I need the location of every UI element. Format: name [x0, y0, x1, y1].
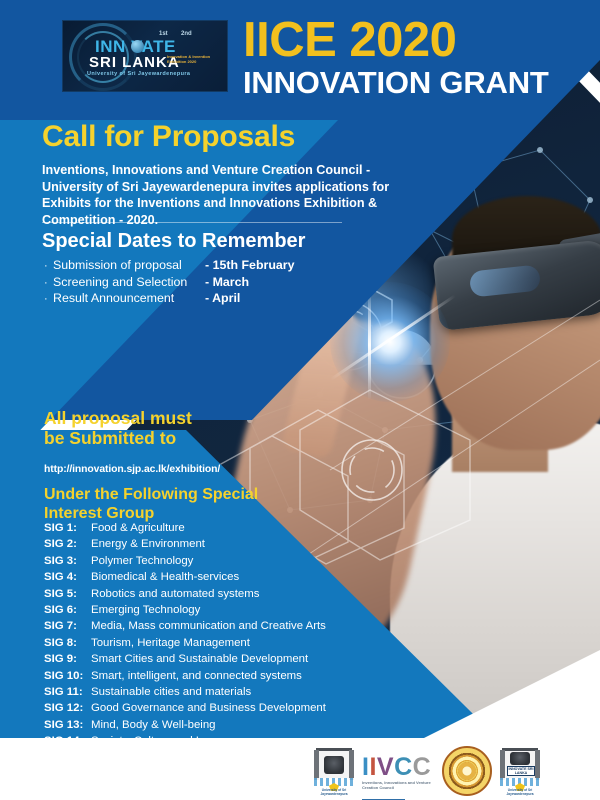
- dates-list: · Submission of proposal - 15th February…: [44, 258, 295, 308]
- crest-emblem: [324, 756, 344, 774]
- list-item: SIG 2:Energy & Environment: [44, 538, 327, 554]
- page-subtitle: INNOVATION GRANT: [243, 67, 549, 98]
- list-item: SIG 7:Media, Mass communication and Crea…: [44, 620, 327, 636]
- submission-url-link[interactable]: http://innovation.sjp.ac.lk/exhibition/: [44, 464, 220, 475]
- iivcc-letter-4: C: [394, 753, 413, 781]
- page-title: IICE 2020: [243, 16, 456, 65]
- sig-key: SIG 6:: [44, 604, 91, 616]
- sig-key: SIG 2:: [44, 538, 91, 550]
- list-item: SIG 4:Biomedical & Health-services: [44, 571, 327, 587]
- date-label: Result Announcement: [53, 291, 205, 305]
- list-item: SIG 15:eGovernment Services & Public Adm…: [44, 751, 327, 767]
- list-item: · Submission of proposal - 15th February: [44, 258, 295, 275]
- sig-value: Smart Cities and Sustainable Development: [91, 653, 308, 665]
- poster-root: 1st 2nd INN VATE SRI LANKA Innovation & …: [0, 0, 600, 800]
- list-item: SIG 10:Smart, intelligent, and connected…: [44, 670, 327, 686]
- university-crest-left-icon: University of Sri Jayewardenepura: [312, 744, 356, 796]
- logo-tick-2: 2nd: [181, 31, 192, 37]
- list-item: SIG 13:Mind, Body & Well-being: [44, 719, 327, 735]
- list-item: SIG 14:Society, Culture and Languages: [44, 735, 327, 751]
- list-item: SIG 1:Food & Agriculture: [44, 522, 327, 538]
- university-crest-right-icon: INNOVATE SRI LANKA University of Sri Jay…: [498, 744, 544, 796]
- iivcc-logo: IIVCC Inventions, Innovations and Ventur…: [362, 754, 436, 796]
- sig-key: SIG 10:: [44, 670, 91, 682]
- sig-value: Sustainable cities and materials: [91, 686, 251, 698]
- date-label: Submission of proposal: [53, 258, 205, 272]
- sig-value: Tourism, Heritage Management: [91, 637, 250, 649]
- sig-key: SIG 9:: [44, 653, 91, 665]
- submission-heading: All proposal must be Submitted to: [44, 408, 214, 448]
- date-label: Screening and Selection: [53, 275, 205, 289]
- bullet-icon: ·: [44, 277, 53, 289]
- sig-value: Society, Culture and Languages: [91, 735, 252, 747]
- sig-key: SIG 14:: [44, 735, 91, 747]
- crest-caption: University of Sri Jayewardenepura: [312, 788, 356, 796]
- bullet-icon: ·: [44, 260, 53, 272]
- iivcc-letter-3: V: [377, 753, 394, 781]
- section-divider: [42, 222, 342, 223]
- sig-value: Media, Mass communication and Creative A…: [91, 620, 326, 632]
- sig-key: SIG 8:: [44, 637, 91, 649]
- crest-emblem: [510, 752, 530, 765]
- innovate-sri-lanka-logo: 1st 2nd INN VATE SRI LANKA Innovation & …: [62, 20, 228, 92]
- sig-key: SIG 5:: [44, 588, 91, 600]
- seal-center: [458, 762, 476, 780]
- call-for-proposals-heading: Call for Proposals: [42, 120, 295, 154]
- list-item: SIG 11:Sustainable cities and materials: [44, 686, 327, 702]
- poster-content: 1st 2nd INN VATE SRI LANKA Innovation & …: [0, 0, 600, 800]
- crest-column-left: [314, 750, 319, 780]
- call-for-proposals-body: Inventions, Innovations and Venture Crea…: [42, 162, 414, 228]
- sig-value: eGovernment Services & Public Administra…: [91, 751, 327, 763]
- crest-column-right: [535, 750, 540, 780]
- iivcc-wordmark: IIVCC: [362, 754, 436, 780]
- iivcc-letter-2: I: [369, 753, 376, 781]
- sig-key: SIG 11:: [44, 686, 91, 698]
- crest-column-left: [500, 750, 505, 780]
- list-item: SIG 6:Emerging Technology: [44, 604, 327, 620]
- sig-value: Mind, Body & Well-being: [91, 719, 216, 731]
- sig-key: SIG 7:: [44, 620, 91, 632]
- sig-key: SIG 12:: [44, 702, 91, 714]
- logo-university-name: University of Sri Jayewardenepura: [87, 71, 190, 77]
- list-item: SIG 5:Robotics and automated systems: [44, 588, 327, 604]
- sig-key: SIG 4:: [44, 571, 91, 583]
- list-item: SIG 9:Smart Cities and Sustainable Devel…: [44, 653, 327, 669]
- list-item: SIG 8:Tourism, Heritage Management: [44, 637, 327, 653]
- list-item: SIG 3:Polymer Technology: [44, 555, 327, 571]
- sig-value: Smart, intelligent, and connected system…: [91, 670, 302, 682]
- sig-value: Polymer Technology: [91, 555, 193, 567]
- sig-key: SIG 13:: [44, 719, 91, 731]
- logo-globe-icon: [131, 40, 144, 53]
- iivcc-subtitle: Inventions, Innovations and Venture Crea…: [362, 780, 434, 790]
- list-item: · Result Announcement - April: [44, 291, 295, 308]
- sig-value: Food & Agriculture: [91, 522, 185, 534]
- sig-value: Biomedical & Health-services: [91, 571, 239, 583]
- logo-tagline: Innovation & Invention Exhibition 2020: [167, 55, 223, 65]
- dates-heading: Special Dates to Remember: [42, 230, 305, 253]
- list-item: · Screening and Selection - March: [44, 275, 295, 292]
- sig-list: SIG 1:Food & Agriculture SIG 2:Energy & …: [44, 522, 327, 768]
- date-value: - April: [205, 291, 240, 305]
- crest-column-right: [349, 750, 354, 780]
- sig-key: SIG 1:: [44, 522, 91, 534]
- sig-value: Robotics and automated systems: [91, 588, 259, 600]
- crest-right-label: INNOVATE SRI LANKA: [507, 766, 535, 776]
- bullet-icon: ·: [44, 293, 53, 305]
- footer-logo-strip: University of Sri Jayewardenepura IIVCC …: [312, 740, 596, 796]
- date-value: - 15th February: [205, 258, 295, 272]
- inventors-commission-seal-icon: [442, 746, 492, 796]
- sig-value: Energy & Environment: [91, 538, 205, 550]
- sig-value: Emerging Technology: [91, 604, 200, 616]
- list-item: SIG 12:Good Governance and Business Deve…: [44, 702, 327, 718]
- date-value: - March: [205, 275, 249, 289]
- sig-key: SIG 15:: [44, 751, 91, 763]
- sig-key: SIG 3:: [44, 555, 91, 567]
- sig-heading: Under the Following Special Interest Gro…: [44, 486, 274, 523]
- crest-caption: University of Sri Jayewardenepura: [498, 788, 542, 796]
- iivcc-letter-5: C: [413, 753, 432, 781]
- sig-value: Good Governance and Business Development: [91, 702, 326, 714]
